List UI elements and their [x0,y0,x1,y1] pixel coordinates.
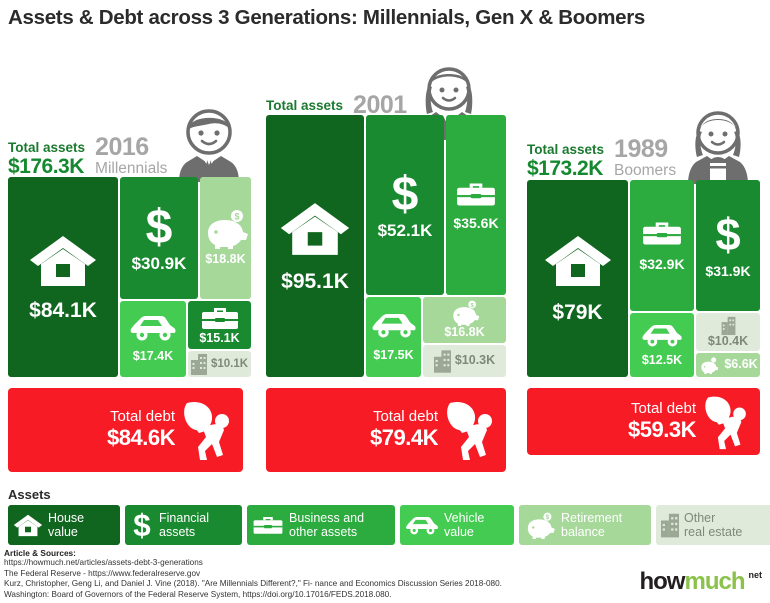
dollar-icon: $ [130,510,154,540]
source-line[interactable]: The Federal Reserve - https://www.federa… [4,569,502,580]
tile-house-genx[interactable]: $95.1K [266,115,364,377]
total-assets-block-millennials: Total assets $176.3K [8,140,85,178]
sources-heading: Article & Sources: [4,548,76,558]
tile-financial-millennials[interactable]: $ $30.9K [120,177,198,299]
brand-how: how [639,568,684,596]
infographic-root: Assets & Debt across 3 Generations: Mill… [0,0,770,603]
tile-retirement-boomers[interactable]: $6.6K [696,353,760,377]
svg-text:$: $ [715,212,740,256]
debt-bar-boomers[interactable]: Total debt $59.3K [527,388,760,455]
legend: House value $ Financial assets Business … [8,505,770,545]
debt-value: $59.3K [628,418,696,443]
total-assets-value: $173.2K [527,157,604,180]
dollar-icon: $ [388,170,422,216]
tile-business-genx[interactable]: $35.6K [446,115,506,295]
generation-year: 2016 [95,135,167,160]
house-icon [543,232,613,288]
total-assets-block-boomers: Total assets $173.2K [527,142,604,180]
generation-year: 1989 [614,137,676,162]
total-assets-value: $176.3K [8,155,85,178]
debt-person-icon [179,399,235,461]
legend-label-line1: Business and [289,511,364,525]
dollar-icon: $ [712,212,744,256]
debt-value: $79.4K [370,426,438,451]
legend-label-line2: value [444,525,484,539]
legend-label-line2: value [48,525,84,539]
tile-value: $10.1K [211,358,248,370]
svg-text:$: $ [392,170,419,216]
legend-item-vehicle-value[interactable]: Vehicle value [400,505,514,545]
debt-bar-genx[interactable]: Total debt $79.4K [266,388,506,472]
tile-other-real-estate-genx[interactable]: $10.3K [423,345,506,377]
young-man-avatar [177,108,241,182]
total-assets-label: Total assets [266,98,343,113]
legend-item-financial-assets[interactable]: $ Financial assets [125,505,242,545]
generation-name-block-boomers: 1989 Boomers [614,137,676,180]
generation-name: Boomers [614,162,676,180]
car-icon [405,515,439,536]
tile-value: $17.5K [373,349,413,362]
building-icon [434,349,451,373]
building-icon [191,353,207,375]
legend-label: Vehicle value [444,511,484,539]
tile-value: $16.8K [444,326,484,339]
legend-label: Financial assets [159,511,209,539]
building-icon [721,316,736,335]
piggy-icon: $ [524,512,556,539]
source-line[interactable]: https://howmuch.net/articles/assets-debt… [4,558,502,569]
treemap-genx: $95.1K $ $52.1K $35.6K [266,115,506,377]
svg-text:$: $ [234,212,239,222]
tile-retirement-millennials[interactable]: $ $18.8K [200,177,251,299]
debt-bar-millennials[interactable]: Total debt $84.6K [8,388,243,472]
sources-list: https://howmuch.net/articles/assets-debt… [4,558,502,600]
dollar-icon: $ [142,203,176,249]
tile-value: $10.3K [455,354,495,367]
tile-financial-genx[interactable]: $ $52.1K [366,115,444,295]
briefcase-icon [641,219,683,247]
briefcase-icon [455,180,497,208]
generation-name-block-millennials: 2016 Millennials [95,135,167,178]
treemap-boomers: $79K $32.9K $ $31.9K [527,180,760,377]
legend-label-line2: assets [159,525,209,539]
house-icon [13,512,43,538]
legend-label: Other real estate [684,511,742,539]
total-assets-label: Total assets [8,140,85,155]
legend-label-line2: real estate [684,525,742,539]
debt-text-block: Total debt $84.6K [107,409,175,450]
debt-value: $84.6K [107,426,175,451]
tile-value: $52.1K [378,222,433,240]
tile-value: $12.5K [642,354,682,367]
tile-business-millennials[interactable]: $15.1K [188,301,251,349]
tile-house-millennials[interactable]: $84.1K [8,177,118,377]
briefcase-icon [200,305,240,331]
page-title: Assets & Debt across 3 Generations: Mill… [8,6,645,30]
car-icon [129,314,177,342]
tile-retirement-genx[interactable]: $ $16.8K [423,297,506,343]
tile-value: $32.9K [639,257,684,272]
tile-financial-boomers[interactable]: $ $31.9K [696,180,760,311]
legend-heading: Assets [8,487,51,502]
generation-name: Millennials [95,160,167,178]
debt-label: Total debt [370,409,438,426]
legend-label: Business and other assets [289,511,364,539]
car-icon [371,312,417,339]
debt-label: Total debt [107,409,175,426]
older-woman-avatar [686,110,750,184]
debt-person-icon [700,394,752,450]
svg-text:$: $ [133,510,150,540]
brand-tld: net [749,570,763,580]
legend-label-line2: balance [561,525,622,539]
tile-value: $95.1K [281,271,349,293]
tile-value: $35.6K [453,216,498,231]
tile-other-real-estate-millennials[interactable]: $10.1K [188,351,251,377]
house-icon [278,199,352,257]
source-line: Kurz, Christopher, Geng Li, and Daniel J… [4,579,502,590]
tile-value: $30.9K [132,255,187,273]
source-line: Washington: Board of Governors of the Fe… [4,590,502,601]
treemap-millennials: $84.1K $ $30.9K $ $18.8K [8,177,243,377]
tile-vehicle-millennials[interactable]: $17.4K [120,301,186,377]
svg-text:$: $ [146,203,173,249]
brand-logo[interactable]: howmuchnet [639,568,762,596]
brand-much: much [684,568,744,596]
tile-value: $15.1K [199,332,239,345]
tile-value: $10.4K [708,335,748,348]
debt-label: Total debt [628,401,696,418]
briefcase-icon [252,514,284,536]
total-assets-label: Total assets [527,142,604,157]
debt-text-block: Total debt $59.3K [628,401,696,442]
building-icon [661,512,679,538]
legend-label-line1: Financial [159,511,209,525]
car-icon [641,323,683,348]
legend-label-line2: other assets [289,525,364,539]
tile-value: $17.4K [133,350,173,363]
tile-value: $18.8K [205,253,245,266]
legend-label-line1: Other [684,511,742,525]
tile-value: $31.9K [705,264,750,279]
legend-label-line1: House [48,511,84,525]
legend-label-line1: Retirement [561,511,622,525]
legend-label: House value [48,511,84,539]
piggy-icon [698,357,720,374]
tile-business-boomers[interactable]: $32.9K [630,180,694,311]
tile-value: $6.6K [724,358,757,371]
tile-vehicle-boomers[interactable]: $12.5K [630,313,694,377]
legend-item-house-value[interactable]: House value [8,505,120,545]
house-icon [28,232,98,288]
tile-other-real-estate-boomers[interactable]: $10.4K [696,313,760,351]
legend-label-line1: Vehicle [444,511,484,525]
generation-header-boomers: Total assets $173.2K 1989 Boomers [527,110,760,180]
legend-label: Retirement balance [561,511,622,539]
debt-person-icon [442,399,498,461]
legend-item-retirement-balance[interactable]: $ Retirement balance [519,505,651,545]
piggy-icon: $ [203,209,249,249]
tile-value: $79K [552,302,602,324]
legend-item-other-real-estate[interactable]: Other real estate [656,505,770,545]
debt-text-block: Total debt $79.4K [370,409,438,450]
tile-vehicle-genx[interactable]: $17.5K [366,297,421,377]
legend-item-business-and-other-assets[interactable]: Business and other assets [247,505,395,545]
tile-house-boomers[interactable]: $79K [527,180,628,377]
generation-header-millennials: Total assets $176.3K 2016 Millennials [8,108,243,178]
tile-value: $84.1K [29,300,97,322]
piggy-icon: $ [445,300,485,326]
